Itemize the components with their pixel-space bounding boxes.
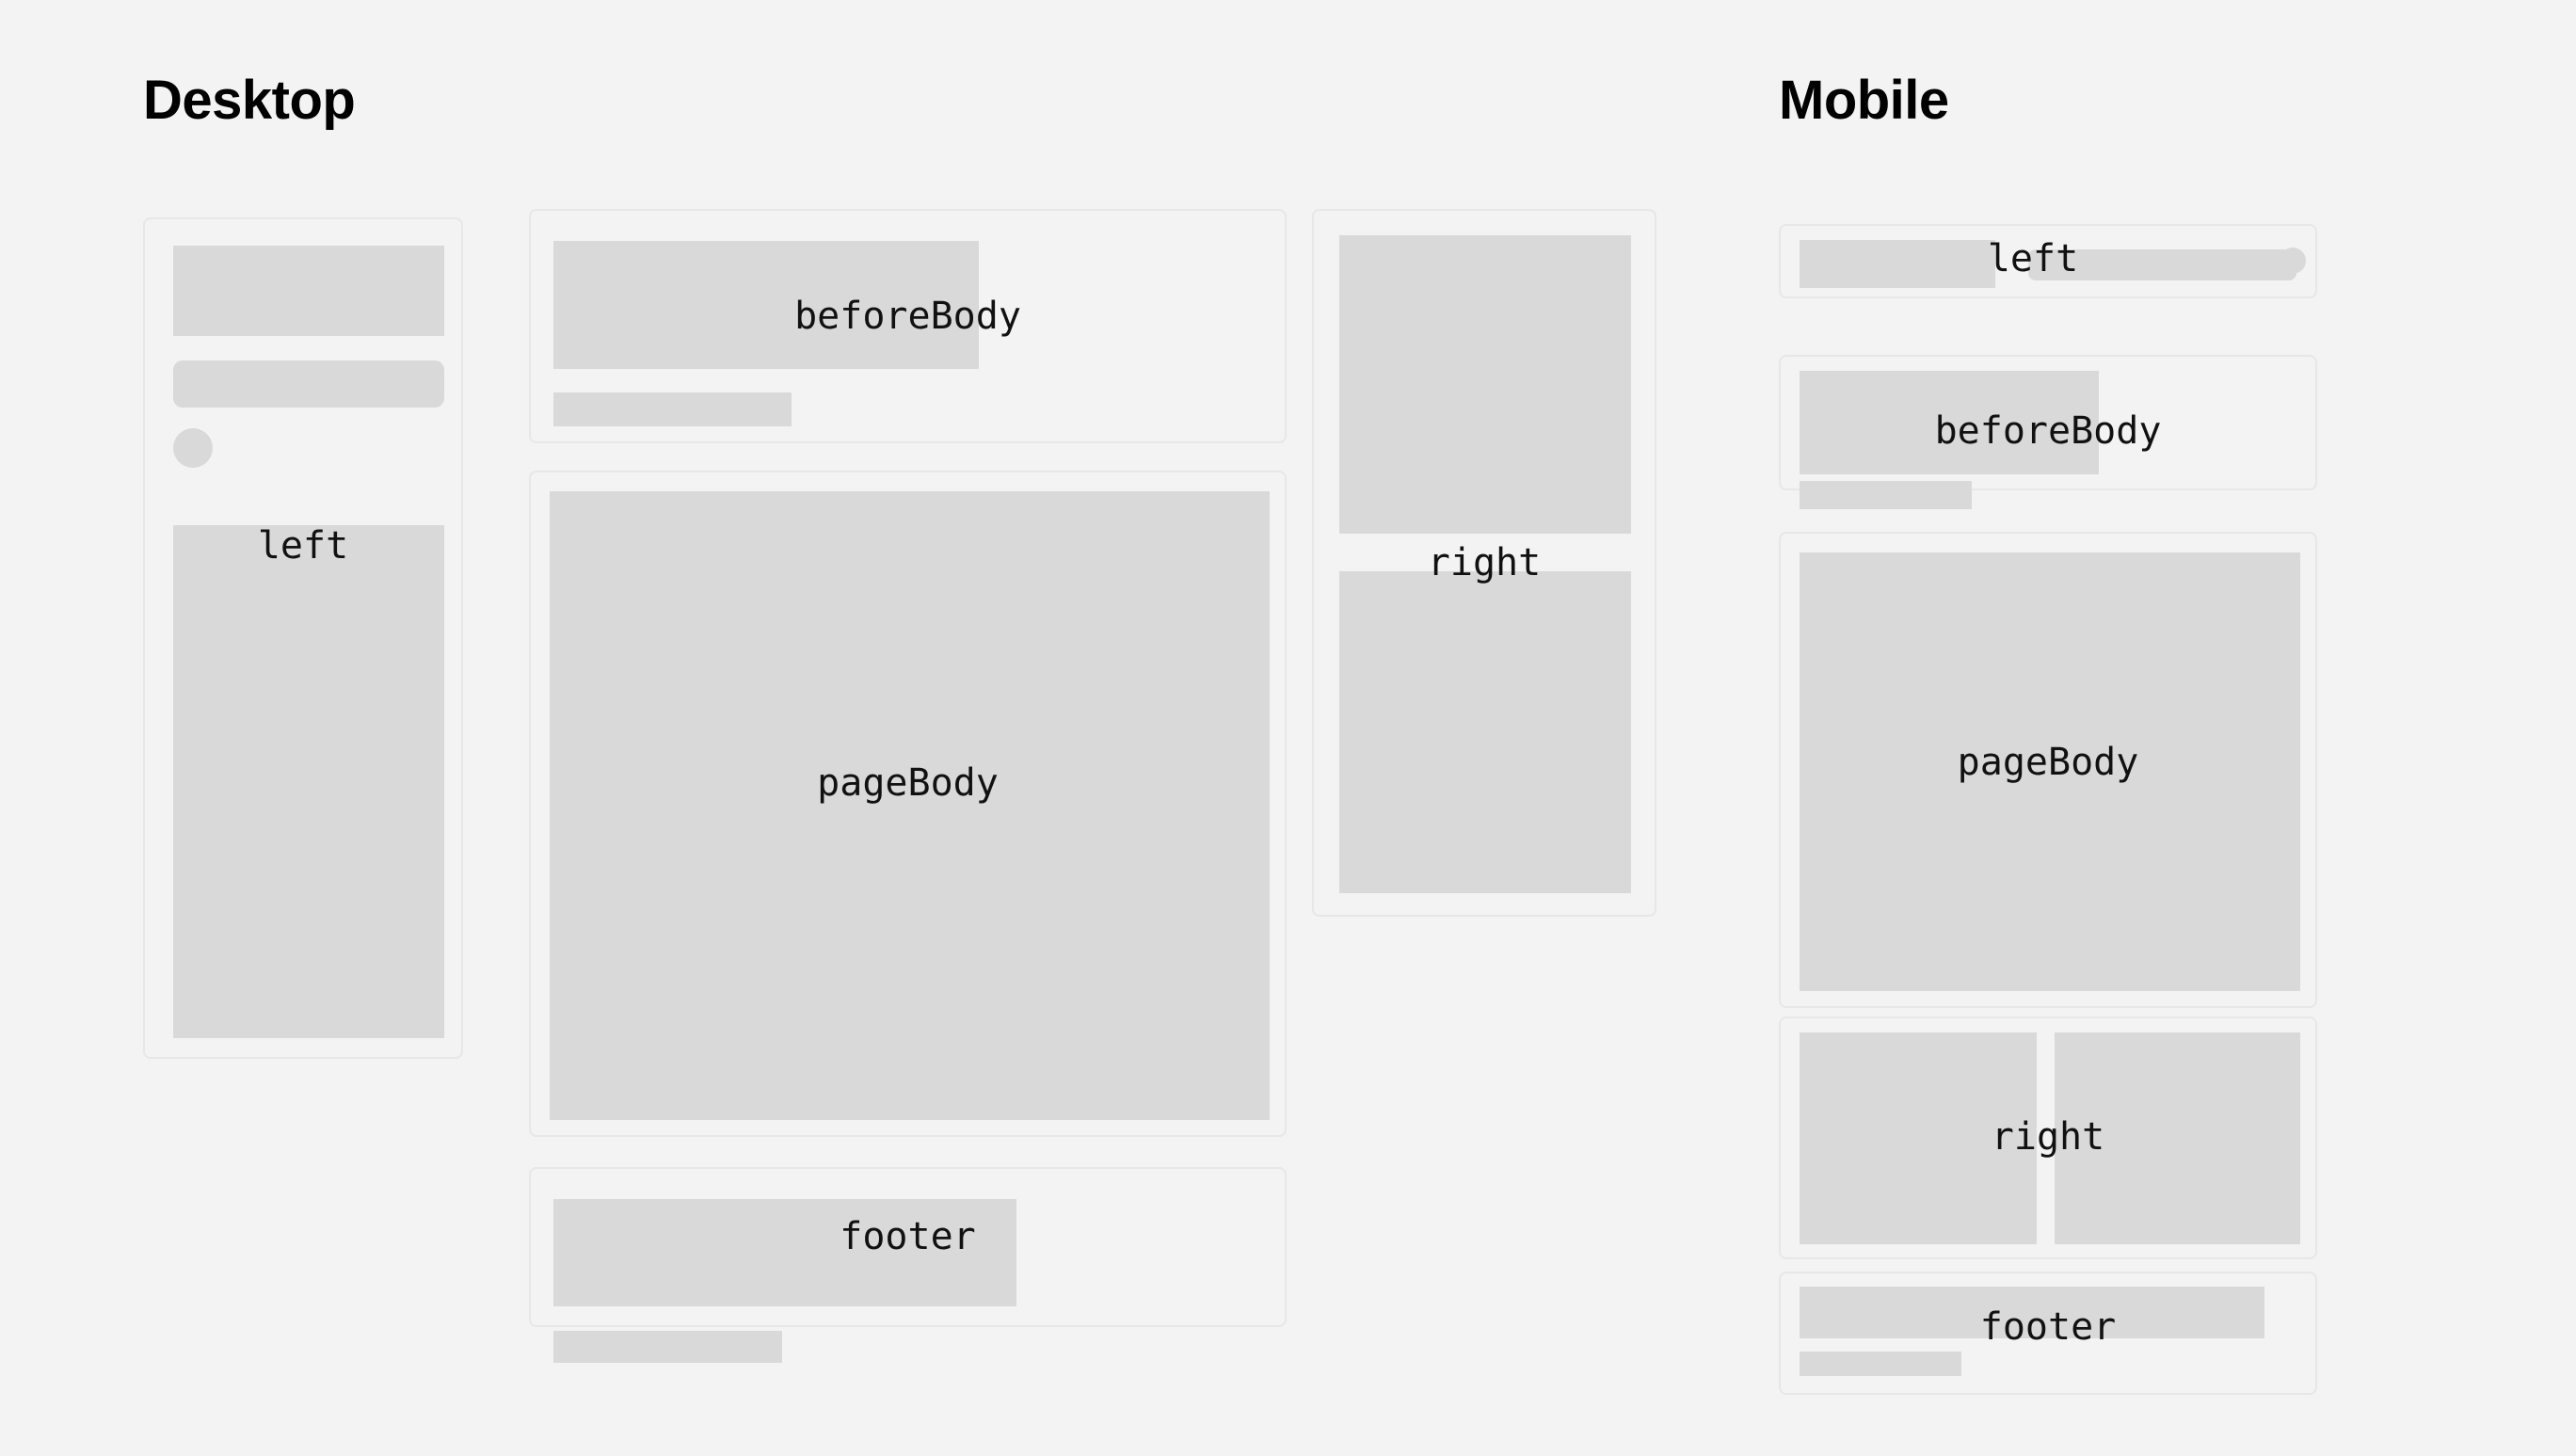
panel-desktop-beforebody[interactable] [529,209,1287,443]
skeleton-block-rect-top [1339,235,1631,534]
skeleton-block-rect-large [553,1199,1016,1306]
skeleton-block-circle [2280,248,2306,274]
skeleton-block-rect-small [1800,1352,1961,1376]
panel-mobile-pagebody[interactable] [1779,532,2317,1008]
section-title-mobile: Mobile [1779,73,1949,128]
skeleton-block-rect-rounded [2028,249,2296,280]
skeleton-block-rect-fill [1800,552,2300,991]
skeleton-block-rect-small [1800,481,1972,509]
skeleton-block-rect-small [553,1331,782,1363]
skeleton-block-rect-fill [550,491,1270,1120]
skeleton-block-rect-rounded [173,360,444,408]
skeleton-block-rect-tall [173,525,444,1038]
skeleton-block-rect [1800,240,1995,288]
skeleton-block-rect-large [1800,371,2099,474]
skeleton-block-rect-large [1800,1287,2264,1338]
skeleton-block-rect-small [553,392,792,426]
skeleton-block-rect-large [173,246,444,336]
skeleton-block-rect-left [1800,1032,2037,1244]
panel-mobile-right[interactable] [1779,1016,2317,1259]
panel-mobile-left[interactable] [1779,224,2317,298]
skeleton-block-rect-large [553,241,979,369]
panel-desktop-right[interactable] [1312,209,1656,917]
section-title-desktop: Desktop [143,73,355,128]
panel-desktop-footer[interactable] [529,1167,1287,1327]
skeleton-block-rect-bottom [1339,571,1631,893]
panel-mobile-beforebody[interactable] [1779,355,2317,490]
skeleton-block-rect-right [2055,1032,2300,1244]
panel-desktop-pagebody[interactable] [529,471,1287,1137]
panel-mobile-footer[interactable] [1779,1272,2317,1395]
skeleton-block-circle [173,428,213,468]
panel-desktop-left[interactable] [143,217,463,1059]
